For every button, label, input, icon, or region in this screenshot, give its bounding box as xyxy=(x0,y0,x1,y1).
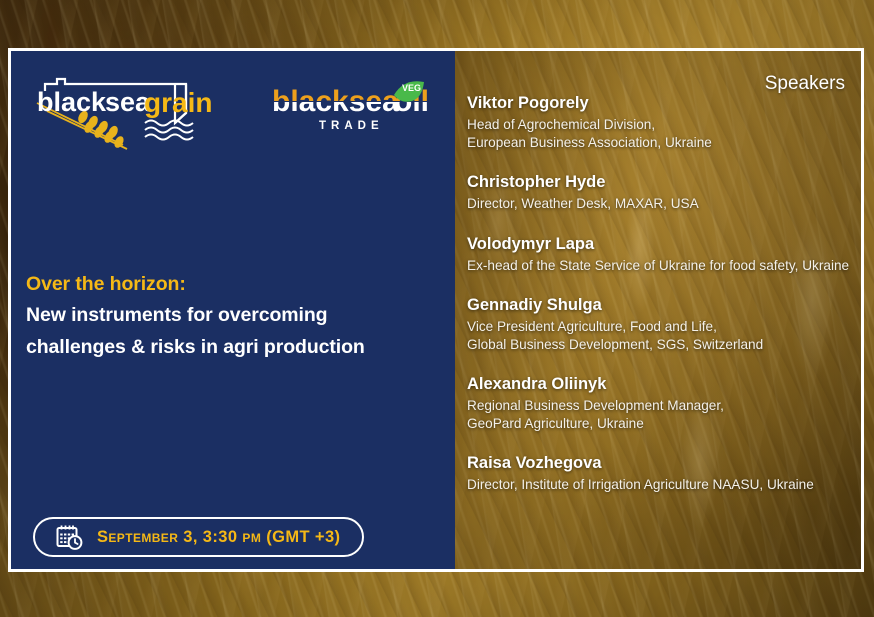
logo-text-veg: VEG xyxy=(402,83,421,93)
speakers-list: Viktor Pogorely Head of Agrochemical Div… xyxy=(467,93,855,494)
poster-frame: black sea grain xyxy=(8,48,864,572)
logo-row: black sea grain xyxy=(11,65,455,155)
list-item: Gennadiy Shulga Vice President Agricultu… xyxy=(467,295,855,353)
list-item: Alexandra Oliinyk Regional Business Deve… xyxy=(467,374,855,432)
headline-line-1: Over the horizon: xyxy=(26,269,436,299)
speaker-name: Alexandra Oliinyk xyxy=(467,374,855,395)
speaker-role-line: Director, Institute of Irrigation Agricu… xyxy=(467,476,855,494)
speaker-role-line: Global Business Development, SGS, Switze… xyxy=(467,336,855,354)
calendar-clock-icon xyxy=(55,523,83,551)
speaker-role-line: GeoPard Agriculture, Ukraine xyxy=(467,415,855,433)
speaker-name: Raisa Vozhegova xyxy=(467,453,855,474)
date-time-badge[interactable]: September 3, 3:30 pm (GMT +3) xyxy=(33,517,364,557)
speaker-name: Viktor Pogorely xyxy=(467,93,855,114)
speakers-panel: Speakers Viktor Pogorely Head of Agroche… xyxy=(455,51,861,569)
blackseaoil-trade-logo: blacksea blacksea oil oil xyxy=(266,79,446,135)
speakers-heading: Speakers xyxy=(765,73,845,95)
logo-text-black: black xyxy=(37,87,107,117)
logo-text-grain: grain xyxy=(144,87,211,118)
blackseagrain-logo: black sea grain xyxy=(23,67,211,151)
list-item: Raisa Vozhegova Director, Institute of I… xyxy=(467,453,855,494)
speaker-role-line: European Business Association, Ukraine xyxy=(467,134,855,152)
speaker-name: Volodymyr Lapa xyxy=(467,234,855,255)
list-item: Christopher Hyde Director, Weather Desk,… xyxy=(467,172,855,213)
speaker-role-line: Ex-head of the State Service of Ukraine … xyxy=(467,257,855,275)
headline-block: Over the horizon: New instruments for ov… xyxy=(26,269,436,363)
speaker-name: Gennadiy Shulga xyxy=(467,295,855,316)
headline-line-2: New instruments for overcoming xyxy=(26,299,436,331)
logo-text-trade: TRADE xyxy=(319,120,384,132)
speaker-role-line: Vice President Agriculture, Food and Lif… xyxy=(467,318,855,336)
list-item: Volodymyr Lapa Ex-head of the State Serv… xyxy=(467,234,855,275)
date-time-label: September 3, 3:30 pm (GMT +3) xyxy=(97,528,340,547)
speaker-role-line: Head of Agrochemical Division, xyxy=(467,116,855,134)
speaker-role-line: Regional Business Development Manager, xyxy=(467,397,855,415)
webinar-announcement-poster: black sea grain xyxy=(0,0,874,617)
headline-line-3: challenges & risks in agri production xyxy=(26,331,436,363)
left-info-panel: black sea grain xyxy=(11,51,455,569)
list-item: Viktor Pogorely Head of Agrochemical Div… xyxy=(467,93,855,151)
speaker-name: Christopher Hyde xyxy=(467,172,855,193)
speaker-role-line: Director, Weather Desk, MAXAR, USA xyxy=(467,195,855,213)
